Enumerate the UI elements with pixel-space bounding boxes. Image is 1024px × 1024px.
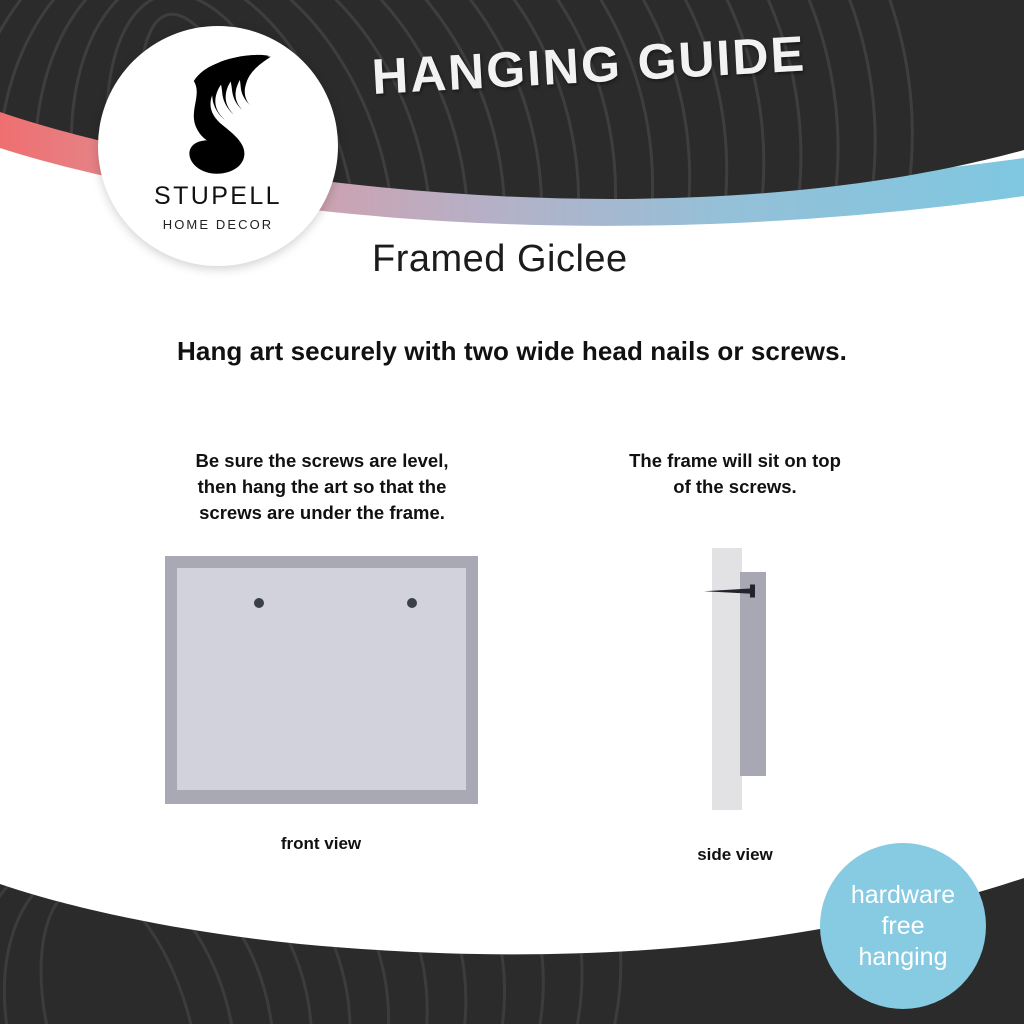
brand-tagline: HOME DECOR xyxy=(163,217,274,232)
main-instruction: Hang art securely with two wide head nai… xyxy=(0,336,1024,367)
badge-line-2: free xyxy=(881,911,924,942)
side-view-label: side view xyxy=(645,845,825,865)
screw-dot-left xyxy=(254,598,264,608)
product-type: Framed Giclee xyxy=(372,238,628,281)
page-title: HANGING GUIDE xyxy=(370,20,892,106)
side-view-caption-line-2: of the screws. xyxy=(600,474,870,500)
badge-line-3: hanging xyxy=(859,942,948,973)
screw-dot-right xyxy=(407,598,417,608)
brand-name: STUPELL xyxy=(154,182,282,211)
front-view-caption-line-2: then hang the art so that the xyxy=(150,474,494,500)
hardware-free-hanging-badge: hardware free hanging xyxy=(820,843,986,1009)
side-view-diagram xyxy=(690,540,800,820)
front-view-caption-line-1: Be sure the screws are level, xyxy=(150,448,494,474)
side-view-caption-line-1: The frame will sit on top xyxy=(600,448,870,474)
hanging-guide-page: STUPELL HOME DECOR HANGING GUIDE Framed … xyxy=(0,0,1024,1024)
front-view-caption-line-3: screws are under the frame. xyxy=(150,500,494,526)
side-view-frame-strip xyxy=(740,572,766,776)
stupell-swoosh-icon xyxy=(152,48,284,180)
brand-logo-badge: STUPELL HOME DECOR xyxy=(98,26,338,266)
front-view-diagram xyxy=(165,556,478,804)
side-view-caption: The frame will sit on top of the screws. xyxy=(600,448,870,500)
front-view-caption: Be sure the screws are level, then hang … xyxy=(150,448,494,526)
badge-line-1: hardware xyxy=(851,880,955,911)
front-view-artwork-area xyxy=(177,568,466,790)
front-view-label: front view xyxy=(221,834,421,854)
nail-icon xyxy=(704,584,764,598)
